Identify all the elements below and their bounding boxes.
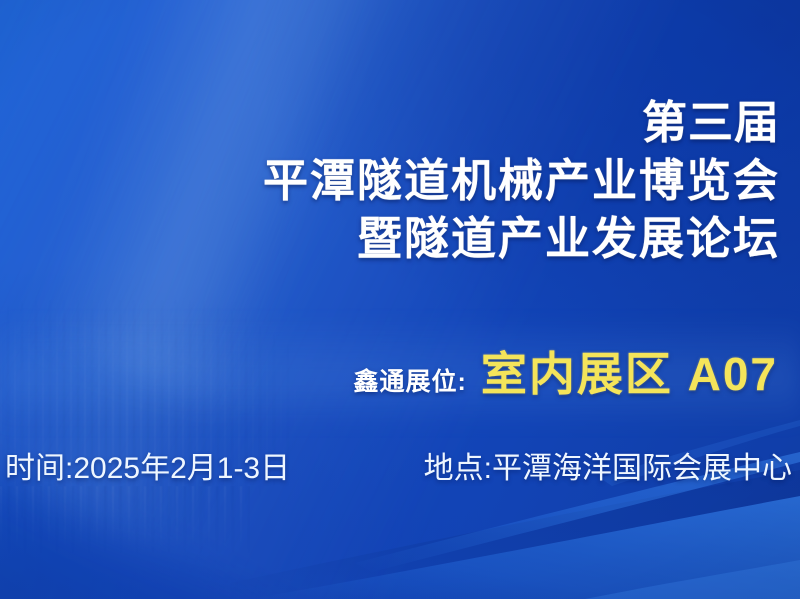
event-title-line-2: 平潭隧道机械产业博览会: [20, 158, 780, 203]
event-date: 时间:2025年2月1-3日: [5, 443, 290, 487]
booth-number: 室内展区 A07: [481, 338, 778, 404]
booth-row: 鑫通展位: 室内展区 A07: [354, 338, 779, 404]
event-info-row: 时间:2025年2月1-3日 地点:平潭海洋国际会展中心: [5, 443, 792, 487]
event-title-line-3: 暨隧道产业发展论坛: [20, 216, 780, 261]
event-venue: 地点:平潭海洋国际会展中心: [424, 443, 792, 487]
banner-content: 第三届 平潭隧道机械产业博览会 暨隧道产业发展论坛 鑫通展位: 室内展区 A07…: [0, 0, 800, 599]
exhibition-banner: 第三届 平潭隧道机械产业博览会 暨隧道产业发展论坛 鑫通展位: 室内展区 A07…: [0, 0, 800, 599]
event-title-block: 第三届 平潭隧道机械产业博览会 暨隧道产业发展论坛: [20, 100, 780, 261]
booth-label: 鑫通展位:: [354, 362, 467, 398]
event-title-line-1: 第三届: [20, 100, 780, 145]
